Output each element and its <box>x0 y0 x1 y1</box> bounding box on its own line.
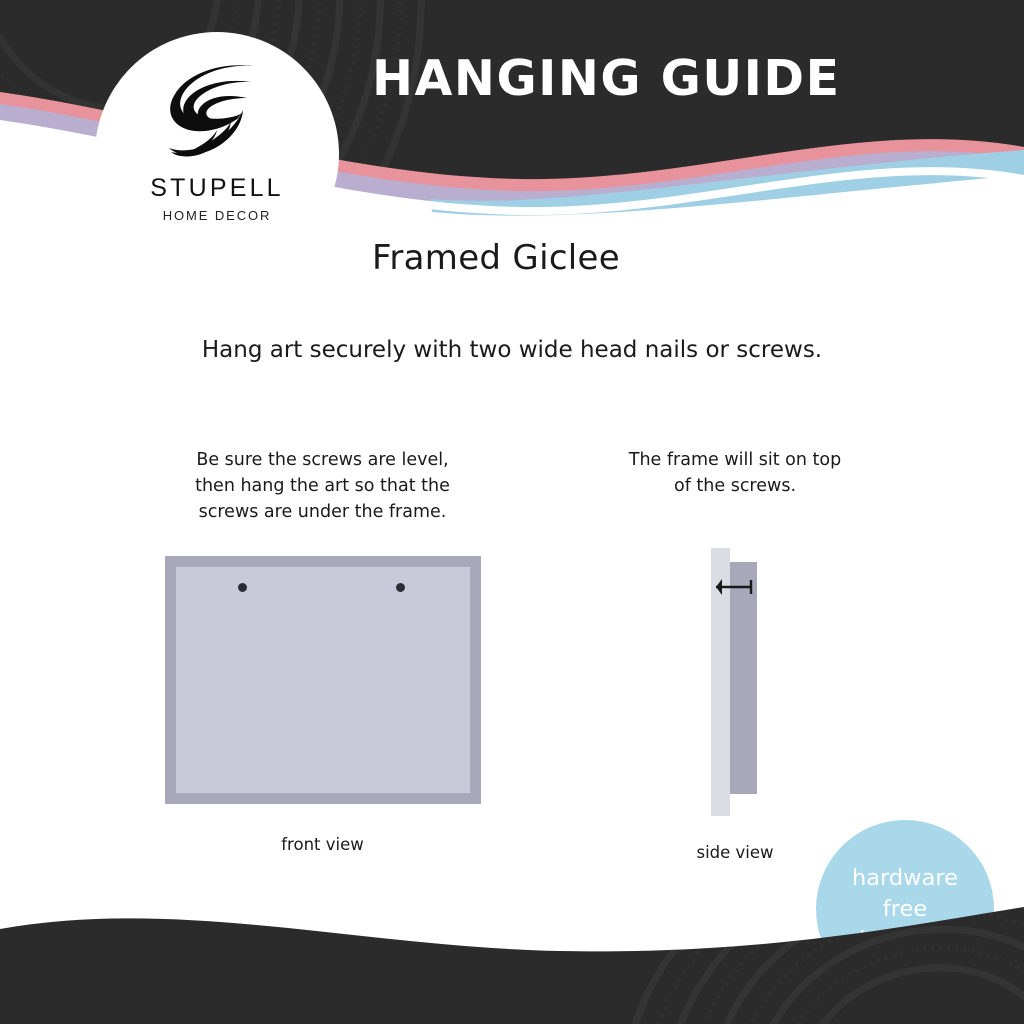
page-title: HANGING GUIDE <box>372 50 841 107</box>
front-view-label: front view <box>200 835 445 854</box>
product-type: Framed Giclee <box>372 238 620 278</box>
side-view-caption: The frame will sit on top of the screws. <box>582 447 888 499</box>
brand-logo: STUPELL HOME DECOR <box>95 32 339 276</box>
front-view-frame-diagram <box>165 556 481 804</box>
main-instruction: Hang art securely with two wide head nai… <box>0 337 1024 363</box>
front-view-caption-line2: then hang the art so that the <box>140 473 505 499</box>
front-view-frame-inner <box>176 567 470 793</box>
brand-name: STUPELL <box>150 174 284 203</box>
screw-right-icon <box>396 583 405 592</box>
bottom-decorative-band <box>0 889 1024 1024</box>
side-view-caption-line2: of the screws. <box>582 473 888 499</box>
front-view-caption-line1: Be sure the screws are level, <box>140 447 505 473</box>
front-view-caption: Be sure the screws are level, then hang … <box>140 447 505 525</box>
stupell-swirl-logo-icon <box>157 52 277 172</box>
side-view-caption-line1: The frame will sit on top <box>582 447 888 473</box>
front-view-caption-line3: screws are under the frame. <box>140 499 505 525</box>
hanging-guide-page: STUPELL HOME DECOR HANGING GUIDE Framed … <box>0 0 1024 1024</box>
side-view-label: side view <box>620 843 850 862</box>
screw-left-icon <box>238 583 247 592</box>
side-view-screw-arrow-icon <box>700 565 780 605</box>
brand-tagline: HOME DECOR <box>163 208 272 223</box>
